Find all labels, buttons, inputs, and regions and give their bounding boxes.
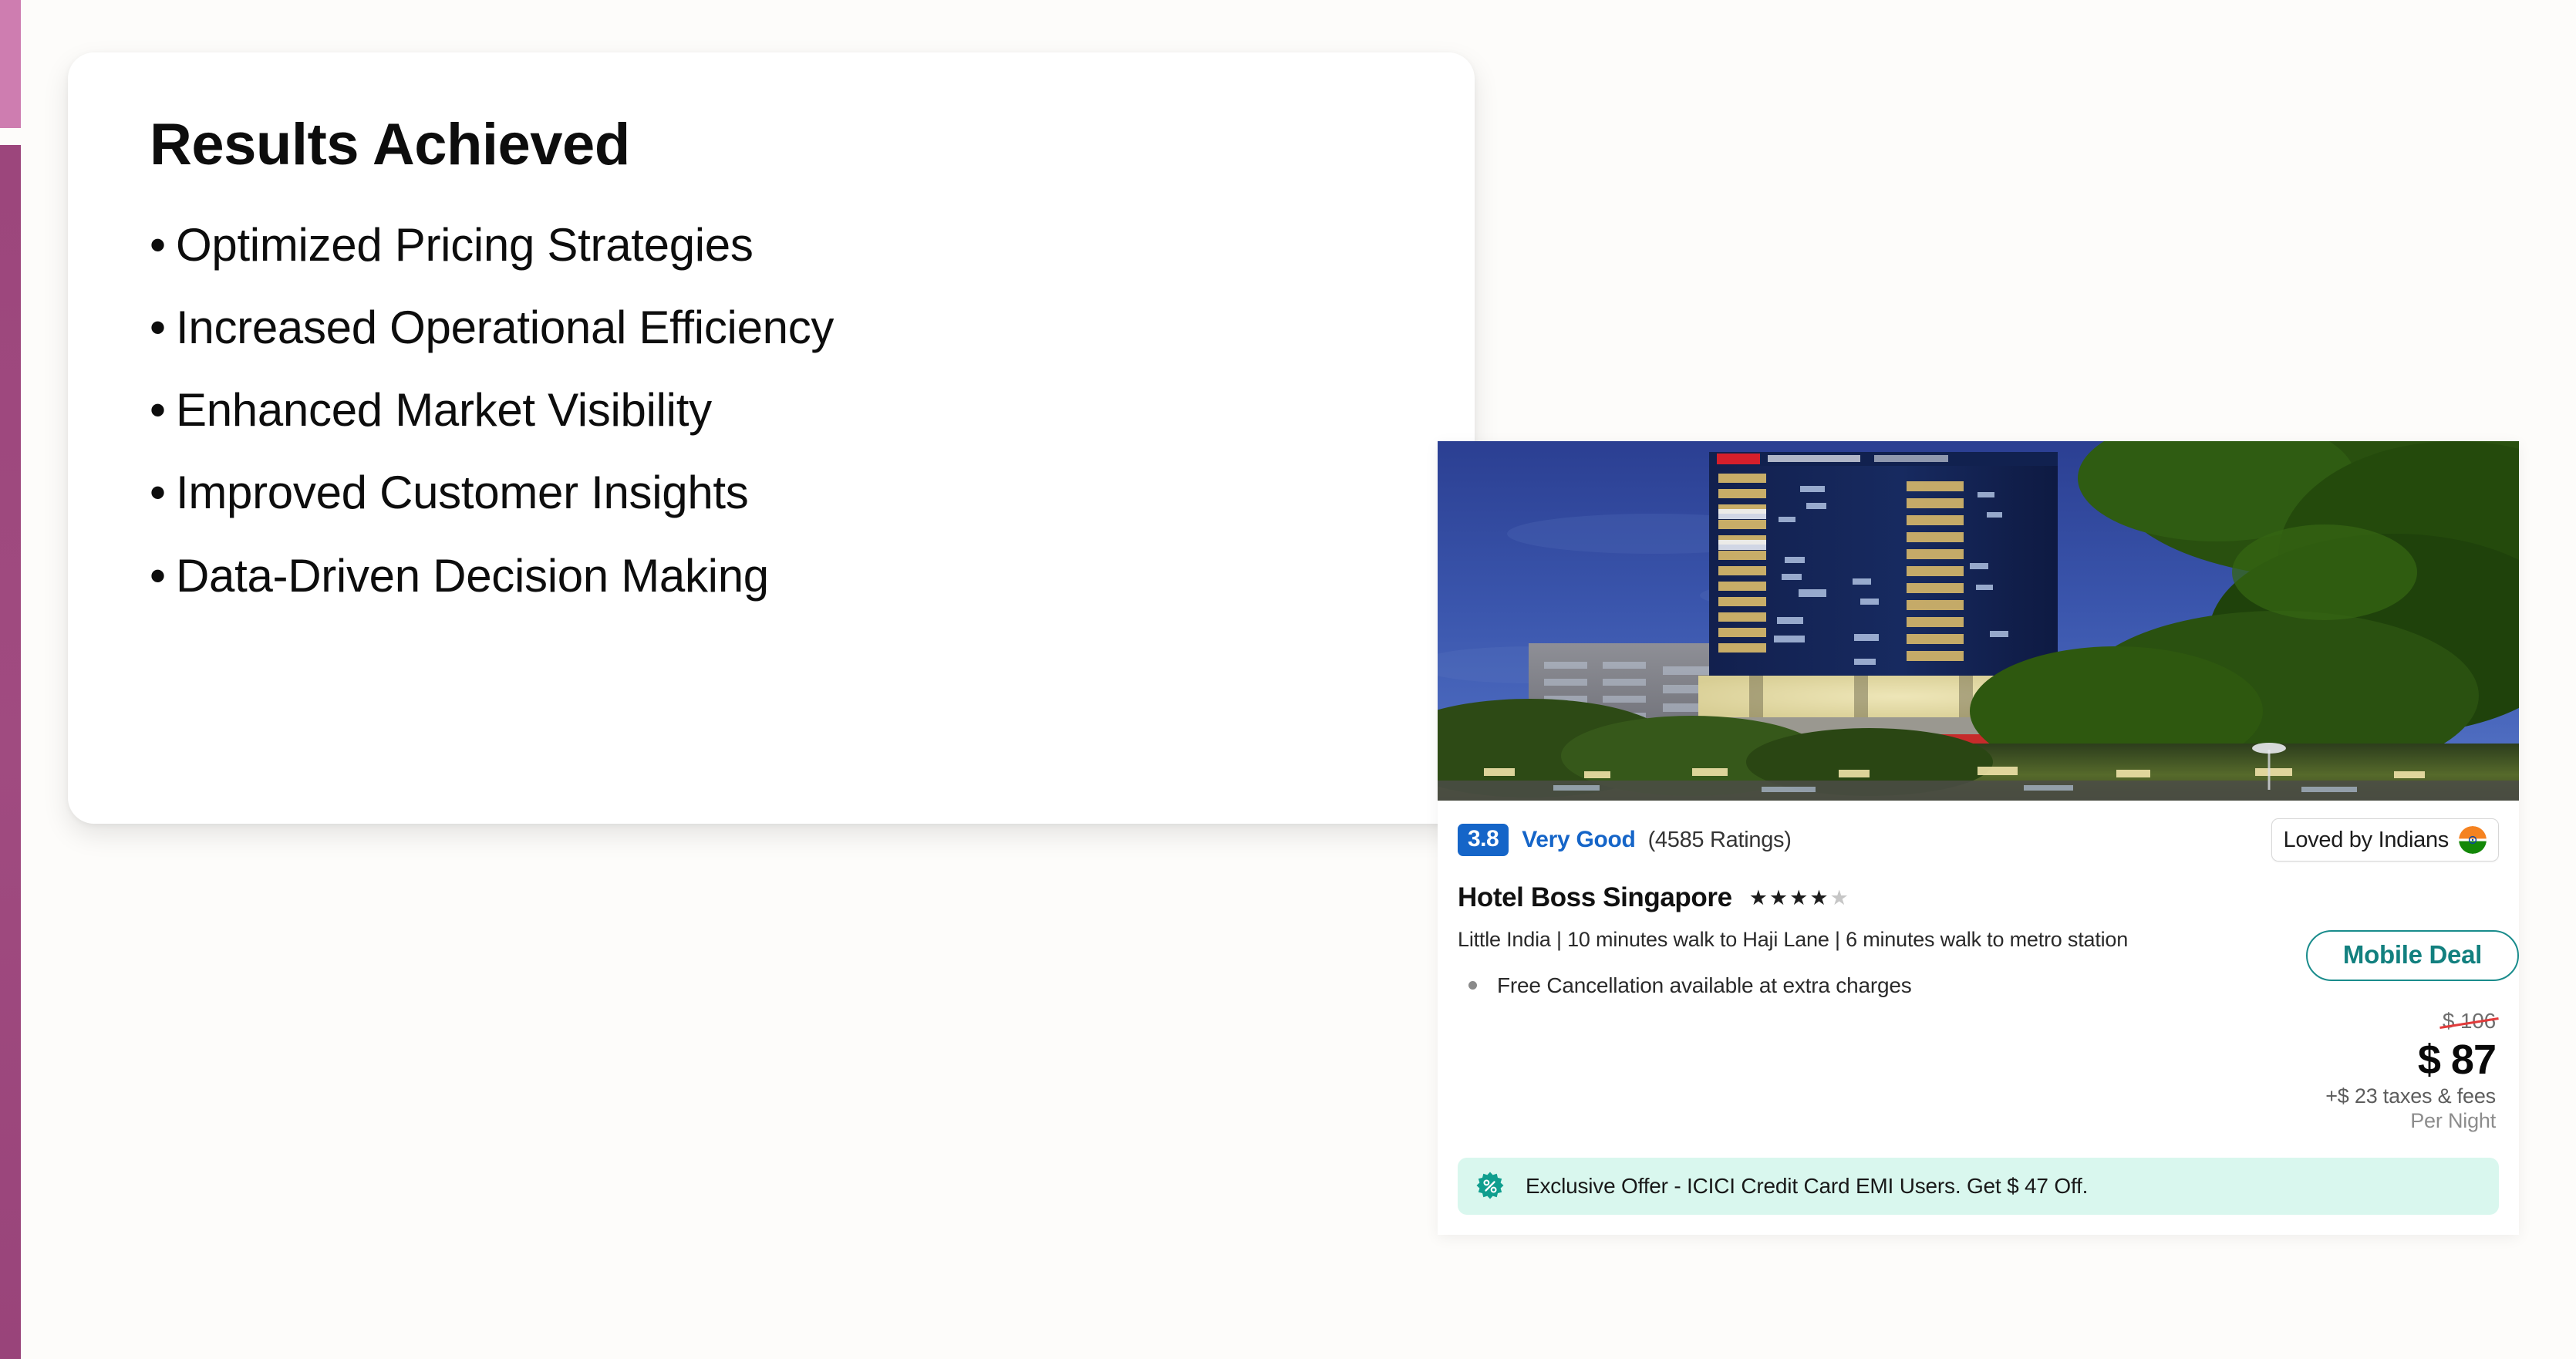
star-filled-icon: ★ — [1769, 886, 1789, 909]
accent-bar-top — [0, 0, 21, 128]
hotel-card-body: 3.8 Very Good (4585 Ratings) Loved by In… — [1438, 801, 2519, 1141]
current-price: $ 87 — [1458, 1037, 2496, 1083]
list-item: • Optimized Pricing Strategies — [150, 219, 1475, 271]
india-flag-icon — [2459, 826, 2487, 854]
results-achieved-card: Results Achieved • Optimized Pricing Str… — [68, 52, 1475, 824]
bullet-icon: • — [150, 219, 176, 271]
loved-by-indians-label: Loved by Indians — [2284, 828, 2449, 853]
results-list: • Optimized Pricing Strategies • Increas… — [150, 219, 1475, 602]
bullet-icon: • — [150, 467, 176, 518]
bullet-icon: • — [150, 302, 176, 353]
hotel-name[interactable]: Hotel Boss Singapore — [1458, 882, 1732, 913]
rating-label: Very Good — [1522, 827, 1635, 853]
hotel-address: Little India | 10 minutes walk to Haji L… — [1458, 927, 2128, 953]
star-filled-icon: ★ — [1789, 886, 1809, 909]
discount-percent-badge-icon — [1475, 1171, 1505, 1202]
list-item-label: Optimized Pricing Strategies — [176, 219, 754, 271]
star-filled-icon: ★ — [1749, 886, 1769, 909]
hotel-exterior-night-image — [1438, 441, 2519, 801]
price-block: $ 106 $ 87 +$ 23 taxes & fees Per Night — [1458, 1009, 2499, 1133]
price-taxes: +$ 23 taxes & fees — [1458, 1084, 2496, 1108]
list-item-label: Enhanced Market Visibility — [176, 384, 712, 436]
hotel-photo[interactable] — [1438, 441, 2519, 801]
hotel-info-row: Little India | 10 minutes walk to Haji L… — [1458, 927, 2499, 953]
list-item-label: Improved Customer Insights — [176, 467, 749, 518]
original-price: $ 106 — [2443, 1009, 2496, 1034]
hotel-name-row[interactable]: Hotel Boss Singapore ★★★★★ — [1458, 882, 2499, 913]
star-empty-icon: ★ — [1830, 886, 1850, 909]
loved-by-indians-badge[interactable]: Loved by Indians — [2271, 818, 2499, 862]
mobile-deal-badge[interactable]: Mobile Deal — [2306, 930, 2519, 981]
bullet-dot-icon — [1468, 981, 1477, 990]
exclusive-offer-label: Exclusive Offer - ICICI Credit Card EMI … — [1526, 1174, 2088, 1199]
bullet-icon: • — [150, 550, 176, 602]
star-rating: ★★★★★ — [1749, 888, 1850, 909]
list-item: • Improved Customer Insights — [150, 467, 1475, 518]
rating-count[interactable]: (4585 Ratings) — [1648, 828, 1792, 853]
star-filled-icon: ★ — [1809, 886, 1829, 909]
accent-bar-bottom — [0, 145, 21, 1359]
rating-row: 3.8 Very Good (4585 Ratings) Loved by In… — [1458, 818, 2499, 862]
results-title: Results Achieved — [150, 114, 1475, 176]
hotel-listing-card[interactable]: 3.8 Very Good (4585 Ratings) Loved by In… — [1438, 441, 2519, 1235]
list-item-label: Data-Driven Decision Making — [176, 550, 769, 602]
rating-score-badge: 3.8 — [1458, 824, 1509, 856]
list-item: • Increased Operational Efficiency — [150, 302, 1475, 353]
price-period: Per Night — [1458, 1109, 2496, 1133]
bullet-icon: • — [150, 384, 176, 436]
list-item: • Data-Driven Decision Making — [150, 550, 1475, 602]
list-item: • Enhanced Market Visibility — [150, 384, 1475, 436]
exclusive-offer-bar[interactable]: Exclusive Offer - ICICI Credit Card EMI … — [1458, 1158, 2499, 1215]
list-item-label: Increased Operational Efficiency — [176, 302, 834, 353]
amenity-label: Free Cancellation available at extra cha… — [1497, 973, 1912, 998]
